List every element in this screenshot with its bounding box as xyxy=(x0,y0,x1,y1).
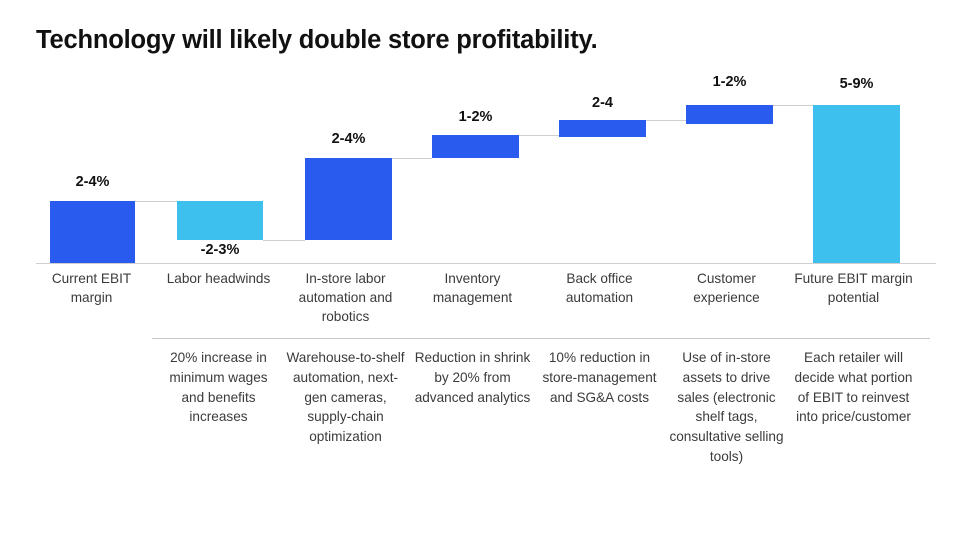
connector-line-3 xyxy=(392,158,432,159)
bar-labor-headwinds[interactable] xyxy=(177,201,263,240)
description-inventory-management: Reduction in shrink by 20% from advanced… xyxy=(409,348,536,407)
waterfall-chart-slide: Technology will likely double store prof… xyxy=(0,0,973,550)
category-label-in-store-labor-automation: In-store labor automation and robotics xyxy=(282,269,409,326)
connector-line-2 xyxy=(263,240,305,241)
connector-line-4 xyxy=(519,135,559,136)
row-left-spacer xyxy=(0,269,28,326)
value-label-back-office-automation: 2-4 xyxy=(559,95,646,111)
category-label-inventory-management: Inventory management xyxy=(409,269,536,326)
bar-customer-experience[interactable] xyxy=(686,105,773,124)
connector-line-6 xyxy=(773,105,813,106)
chart-plot-area: 2-4% -2-3% 2-4% 1-2% 2-4 1-2% 5-9% xyxy=(0,0,973,270)
value-label-inventory-management: 1-2% xyxy=(432,109,519,125)
description-customer-experience: Use of in-store assets to drive sales (e… xyxy=(663,348,790,467)
category-label-row: Current EBIT margin Labor headwinds In-s… xyxy=(0,269,973,326)
category-label-back-office-automation: Back office automation xyxy=(536,269,663,326)
chart-baseline xyxy=(36,263,936,264)
category-label-customer-experience: Customer experience xyxy=(663,269,790,326)
description-back-office-automation: 10% reduction in store-management and SG… xyxy=(536,348,663,407)
bar-in-store-labor-automation[interactable] xyxy=(305,158,392,240)
value-label-future-ebit-margin-potential: 5-9% xyxy=(813,76,900,92)
bar-inventory-management[interactable] xyxy=(432,135,519,158)
description-labor-headwinds: 20% increase in minimum wages and benefi… xyxy=(155,348,282,427)
category-label-labor-headwinds: Labor headwinds xyxy=(155,269,282,326)
bar-current-ebit-margin[interactable] xyxy=(50,201,135,263)
connector-line-1 xyxy=(135,201,177,202)
value-label-labor-headwinds: -2-3% xyxy=(177,242,263,258)
bar-back-office-automation[interactable] xyxy=(559,120,646,137)
value-label-in-store-labor-automation: 2-4% xyxy=(305,131,392,147)
value-label-current-ebit-margin: 2-4% xyxy=(50,174,135,190)
category-label-current-ebit-margin: Current EBIT margin xyxy=(28,269,155,326)
category-label-future-ebit-margin-potential: Future EBIT margin potential xyxy=(790,269,917,326)
value-label-customer-experience: 1-2% xyxy=(686,74,773,90)
description-in-store-labor-automation: Warehouse-to-shelf automation, next-gen … xyxy=(282,348,409,447)
description-future-ebit-margin-potential: Each retailer will decide what portion o… xyxy=(790,348,917,427)
section-divider xyxy=(152,338,930,339)
bar-future-ebit-margin-potential[interactable] xyxy=(813,105,900,263)
connector-line-5 xyxy=(646,120,686,121)
description-row: 20% increase in minimum wages and benefi… xyxy=(0,348,973,467)
